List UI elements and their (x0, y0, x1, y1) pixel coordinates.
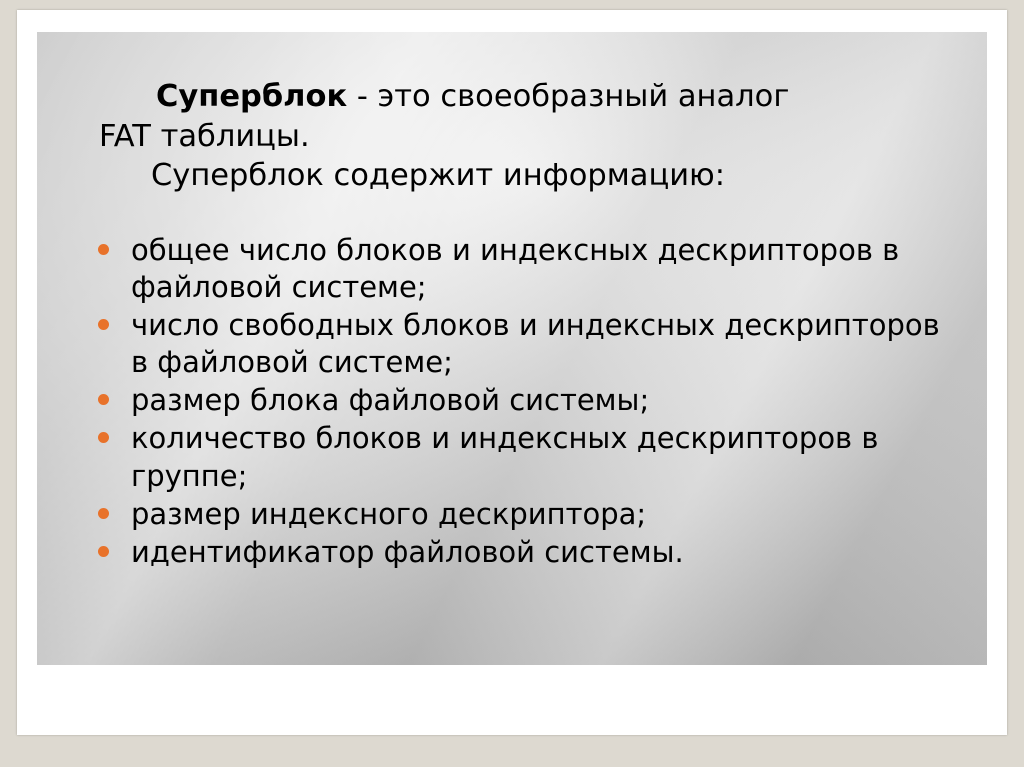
title-line-2: FAT таблицы. (99, 117, 927, 157)
bullet-dot-icon (98, 394, 109, 405)
bullet-dot-icon (98, 319, 109, 330)
list-item-text: общее число блоков и индексных дескрипто… (131, 233, 899, 304)
bullet-dot-icon (98, 546, 109, 557)
bullet-dot-icon (98, 508, 109, 519)
list-item-text: размер блока файловой системы; (131, 383, 649, 417)
slide-title: Суперблок - это своеобразный аналог FAT … (37, 32, 987, 196)
bullet-dot-icon (98, 244, 109, 255)
list-item-text: количество блоков и индексных дескриптор… (131, 421, 878, 492)
list-item-text: размер индексного дескриптора; (131, 497, 646, 531)
list-item: размер блока файловой системы; (93, 382, 947, 419)
bullet-dot-icon (98, 432, 109, 443)
bullet-list: общее число блоков и индексных дескрипто… (37, 196, 987, 571)
list-item: число свободных блоков и индексных дескр… (93, 307, 947, 381)
list-item: общее число блоков и индексных дескрипто… (93, 232, 947, 306)
title-line-1-rest: - это своеобразный аналог (347, 79, 789, 114)
list-item: размер индексного дескриптора; (93, 496, 947, 533)
list-item: количество блоков и индексных дескриптор… (93, 420, 947, 494)
slide-content-panel: Суперблок - это своеобразный аналог FAT … (37, 32, 987, 665)
slide-footer-strip (37, 665, 987, 713)
list-item-text: идентификатор файловой системы. (131, 535, 684, 569)
title-line-1: Суперблок - это своеобразный аналог (99, 77, 927, 117)
slide-frame: Суперблок - это своеобразный аналог FAT … (17, 10, 1007, 735)
title-line-3: Суперблок содержит информацию: (99, 156, 927, 196)
list-item-text: число свободных блоков и индексных дескр… (131, 308, 940, 379)
list-item: идентификатор файловой системы. (93, 534, 947, 571)
title-keyword: Суперблок (156, 79, 347, 114)
